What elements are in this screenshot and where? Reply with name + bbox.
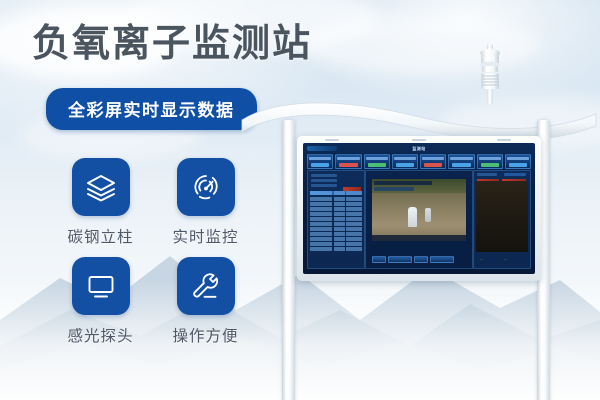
feature-item-light-sensor[interactable]: 感光探头 [48,257,153,346]
wrench-icon [177,257,235,315]
live-video-panel[interactable] [365,170,473,269]
kpi-card [392,154,418,169]
kpi-card [364,154,390,169]
camera-feed[interactable] [372,179,466,241]
feed-label-overlay [374,187,414,191]
kpi-card [335,154,361,169]
feature-label: 感光探头 [67,324,133,346]
feature-label: 操作方便 [172,324,238,346]
dashboard: 监测站 [303,143,535,274]
control-select[interactable] [430,256,454,263]
dashboard-title: 监测站 [303,146,535,152]
feature-item-carbon-steel-post[interactable]: 碳钢立柱 [48,158,153,247]
kpi-card [477,154,503,169]
display-screen-frame: 监测站 [297,136,541,281]
control-select[interactable] [388,256,412,263]
kpi-card [420,154,446,169]
control-label [414,256,428,263]
subtitle-badge: 全彩屏实时显示数据 [46,88,257,130]
kpi-row [307,154,531,169]
person-in-feed [408,207,417,227]
video-controls[interactable] [372,256,466,262]
monitor-icon [72,257,130,315]
monitoring-station: 监测站 [240,42,600,400]
control-label [372,256,386,263]
bezel-vent [412,139,426,141]
carbon-steel-post-left [282,120,295,400]
feed-timestamp-overlay [374,181,432,185]
bezel-vent [497,139,511,141]
person-in-feed [425,208,431,222]
secondary-camera-feed[interactable] [476,181,528,252]
feature-label: 实时监控 [172,225,238,247]
kpi-card [448,154,474,169]
feature-label: 碳钢立柱 [67,225,133,247]
feed-control-bar[interactable] [372,235,466,241]
feature-grid: 碳钢立柱 实时监控 [48,158,258,346]
alarm-panel[interactable]: -- -- [473,170,531,269]
kpi-card [307,154,333,169]
radar-icon [177,158,235,216]
device-list-panel[interactable] [307,170,365,269]
kpi-card [505,154,531,169]
layers-icon [72,158,130,216]
bezel-vent [325,139,339,141]
poster-stage: 负氧离子监测站 全彩屏实时显示数据 碳钢立柱 [0,0,600,400]
display-screen[interactable]: 监测站 [303,143,535,274]
